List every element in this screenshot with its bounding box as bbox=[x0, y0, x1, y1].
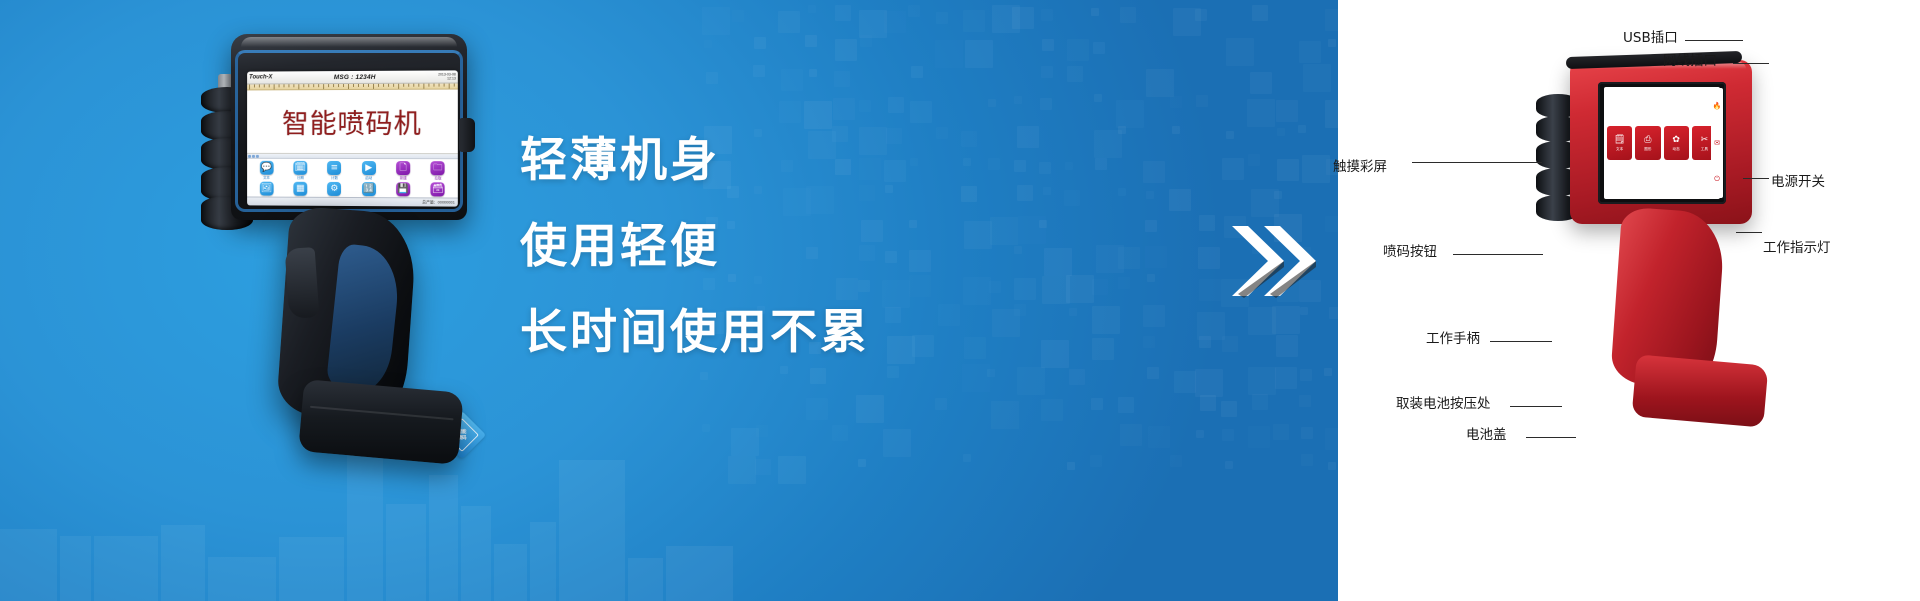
digits-icon[interactable]: 🔢 bbox=[362, 182, 376, 196]
toolbar-icon[interactable] bbox=[256, 154, 259, 157]
screen-icon-date[interactable]: 🗓日期 bbox=[284, 161, 317, 182]
screen-title-left: Touch-X bbox=[249, 74, 272, 80]
screen-time: 12:13 bbox=[447, 76, 456, 80]
red-screen-tiles[interactable]: 🗒文本⎙图形✿动态✂工具 bbox=[1604, 87, 1720, 199]
callout-battery-release: 取装电池按压处 bbox=[1396, 392, 1491, 412]
red-device-screen[interactable]: 🗒文本⎙图形✿动态✂工具 🔥✉⏻ bbox=[1598, 82, 1726, 204]
leader-line-indicator bbox=[1736, 232, 1762, 233]
headline-group: 轻薄机身 使用轻便 长时间使用不累 bbox=[520, 118, 990, 376]
callout-power-switch: 电源开关 bbox=[1771, 170, 1825, 190]
red-screen-tile[interactable]: ✿动态 bbox=[1664, 126, 1689, 160]
screen-icon-label: 新建 bbox=[400, 176, 407, 181]
callout-ethernet-port: 网线插口 bbox=[1663, 49, 1717, 69]
screen-icon-open[interactable]: 🗀拉取 bbox=[421, 161, 455, 182]
date-icon[interactable]: 🗓 bbox=[293, 161, 307, 175]
left-blue-panel: Touch-X MSG : 1234H 2013-03-08 12:13 智能喷… bbox=[0, 0, 1338, 601]
callout-touch-screen: 触摸彩屏 bbox=[1333, 155, 1387, 175]
red-screen-side-icon[interactable]: ⏻ bbox=[1714, 176, 1720, 184]
tile-glyph-icon: ✂ bbox=[1701, 134, 1709, 145]
screen-icon-text[interactable]: 💬文本 bbox=[250, 161, 283, 182]
canvas-message-text: 智能喷码机 bbox=[282, 102, 422, 141]
red-screen-tile[interactable]: ⎙图形 bbox=[1635, 126, 1660, 160]
callout-work-handle: 工作手柄 bbox=[1426, 327, 1480, 347]
screen-title-datetime: 2013-03-08 12:13 bbox=[438, 72, 456, 80]
start-icon[interactable]: ▶ bbox=[362, 161, 376, 175]
screen-icon-label: 拉取 bbox=[434, 176, 441, 181]
leader-line-handle bbox=[1490, 341, 1552, 342]
device-battery-pack bbox=[298, 379, 464, 465]
double-chevron-right-icon bbox=[1230, 222, 1320, 300]
new-icon[interactable]: 🗋 bbox=[396, 161, 410, 175]
handheld-printer-illustration: Touch-X MSG : 1234H 2013-03-08 12:13 智能喷… bbox=[183, 34, 483, 464]
toolbar-icon[interactable] bbox=[252, 154, 255, 157]
screen-icon-start[interactable]: ▶启动 bbox=[352, 161, 385, 182]
leader-line-print-button bbox=[1453, 254, 1543, 255]
callout-work-indicator: 工作指示灯 bbox=[1763, 236, 1831, 256]
screen-icon-new[interactable]: 🗋新建 bbox=[386, 161, 420, 182]
product-banner: Touch-X MSG : 1234H 2013-03-08 12:13 智能喷… bbox=[0, 0, 1920, 601]
screen-icon-label: 计数 bbox=[331, 176, 338, 181]
tile-label: 工具 bbox=[1701, 147, 1708, 152]
red-screen-side-icon[interactable]: ✉ bbox=[1714, 139, 1720, 147]
device-side-port bbox=[459, 118, 475, 152]
callout-usb-port: USB插口 bbox=[1623, 26, 1678, 46]
save-as-icon[interactable]: 🗃 bbox=[431, 182, 445, 196]
production-count-label: 总产量：00000001 bbox=[422, 200, 455, 205]
tile-glyph-icon: 🗒 bbox=[1614, 134, 1625, 145]
headline-line-2: 使用轻便 bbox=[520, 204, 990, 290]
tile-label: 图形 bbox=[1644, 147, 1651, 152]
screen-canvas[interactable]: 智能喷码机 bbox=[247, 90, 458, 155]
headline-line-3: 长时间使用不累 bbox=[520, 290, 990, 376]
red-device-battery bbox=[1632, 354, 1769, 427]
screen-titlebar: Touch-X MSG : 1234H 2013-03-08 12:13 bbox=[247, 70, 458, 84]
device-trigger bbox=[285, 247, 320, 319]
red-screen-tile[interactable]: 🗒文本 bbox=[1607, 126, 1632, 160]
image-icon[interactable]: 🖼 bbox=[260, 182, 274, 196]
screen-icon-label: 文本 bbox=[263, 176, 270, 181]
tile-label: 动态 bbox=[1673, 147, 1680, 152]
device-lcd-screen[interactable]: Touch-X MSG : 1234H 2013-03-08 12:13 智能喷… bbox=[247, 70, 458, 206]
callout-print-button: 喷码按钮 bbox=[1383, 240, 1437, 260]
leader-line-touch-screen bbox=[1412, 162, 1542, 163]
right-white-panel: 🗒文本⎙图形✿动态✂工具 🔥✉⏻ USB插口 网线插口 触摸彩屏 电源开关 工作… bbox=[1338, 0, 1920, 601]
open-icon[interactable]: 🗀 bbox=[431, 161, 445, 175]
leader-line-usb bbox=[1685, 40, 1743, 41]
device-top-highlight bbox=[241, 37, 457, 47]
settings-icon[interactable]: ⚙ bbox=[327, 182, 341, 196]
save-icon[interactable]: 💾 bbox=[396, 182, 410, 196]
screen-statusbar: 总产量：00000001 bbox=[247, 196, 458, 206]
leader-line-power bbox=[1743, 178, 1769, 179]
counter-icon[interactable]: ≡ bbox=[327, 161, 341, 175]
text-icon[interactable]: 💬 bbox=[260, 161, 274, 175]
red-printer-illustration: 🗒文本⎙图形✿动态✂工具 🔥✉⏻ bbox=[1528, 60, 1758, 480]
red-screen-side-icon[interactable]: 🔥 bbox=[1713, 102, 1722, 110]
leader-line-battery-cover bbox=[1526, 437, 1576, 438]
headline-line-1: 轻薄机身 bbox=[520, 118, 990, 204]
screen-icon-label: 日期 bbox=[297, 176, 304, 181]
red-screen-side-icons[interactable]: 🔥✉⏻ bbox=[1711, 88, 1723, 198]
tile-glyph-icon: ⎙ bbox=[1644, 134, 1651, 145]
screen-title-message: MSG : 1234H bbox=[334, 73, 376, 80]
barcode-icon[interactable]: ▦ bbox=[293, 182, 307, 196]
toolbar-icon[interactable] bbox=[248, 154, 251, 157]
tile-label: 文本 bbox=[1616, 147, 1623, 152]
leader-line-ethernet bbox=[1733, 63, 1769, 64]
screen-icon-label: 启动 bbox=[365, 176, 372, 181]
tile-glyph-icon: ✿ bbox=[1672, 134, 1680, 145]
leader-line-battery-release bbox=[1510, 406, 1562, 407]
screen-icon-counter[interactable]: ≡计数 bbox=[318, 161, 351, 182]
callout-battery-cover: 电池盖 bbox=[1466, 423, 1507, 443]
